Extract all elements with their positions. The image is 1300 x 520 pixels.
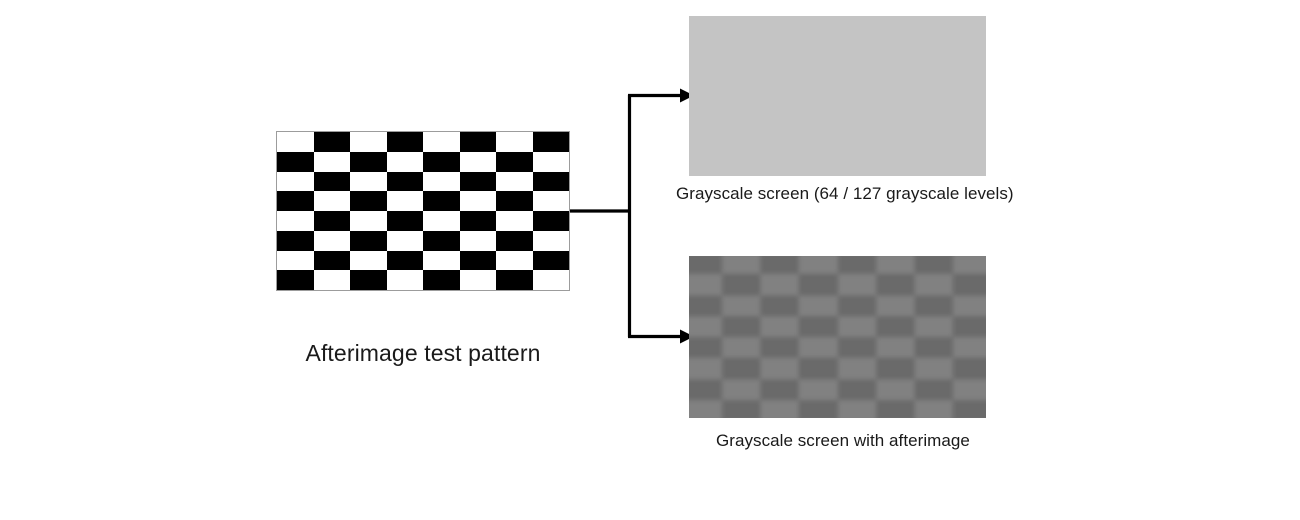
checker-cell: [423, 211, 460, 231]
afterimage-cell: [799, 337, 837, 358]
afterimage-cell: [953, 295, 986, 316]
grayscale-screen: [689, 16, 986, 176]
afterimage-cell: [838, 379, 876, 400]
afterimage-cell: [689, 274, 722, 295]
checker-cell: [314, 251, 351, 271]
checker-cell: [423, 231, 460, 251]
afterimage-cell: [722, 295, 760, 316]
afterimage-cell: [838, 274, 876, 295]
afterimage-cell: [876, 400, 914, 418]
afterimage-screen: [689, 256, 986, 418]
afterimage-cell: [914, 274, 952, 295]
checker-cell: [350, 152, 387, 172]
checker-cell: [496, 211, 533, 231]
afterimage-cell: [876, 274, 914, 295]
checker-cell: [314, 270, 351, 290]
checker-cell: [387, 172, 424, 192]
afterimage-cell: [914, 358, 952, 379]
afterimage-cell: [953, 379, 986, 400]
afterimage-cell: [953, 316, 986, 337]
afterimage-test-pattern: [276, 131, 570, 291]
afterimage-cell: [953, 274, 986, 295]
checker-cell: [496, 270, 533, 290]
checker-cell: [460, 132, 497, 152]
afterimage-cell: [799, 379, 837, 400]
afterimage-cell: [953, 256, 986, 274]
checker-cell: [460, 172, 497, 192]
checker-cell: [387, 132, 424, 152]
afterimage-cell: [914, 379, 952, 400]
checker-cell: [314, 191, 351, 211]
afterimage-cell: [689, 316, 722, 337]
checker-cell: [350, 251, 387, 271]
afterimage-cell: [914, 337, 952, 358]
afterimage-cell: [722, 256, 760, 274]
afterimage-cell: [722, 274, 760, 295]
checker-cell: [496, 231, 533, 251]
afterimage-cell: [722, 316, 760, 337]
afterimage-cell: [761, 274, 799, 295]
afterimage-cell: [876, 337, 914, 358]
afterimage-cell: [799, 316, 837, 337]
checker-cell: [350, 270, 387, 290]
checker-cell: [423, 191, 460, 211]
checker-cell: [460, 191, 497, 211]
afterimage-cell: [799, 256, 837, 274]
checker-cell: [350, 172, 387, 192]
grayscale-screen-caption: Grayscale screen (64 / 127 grayscale lev…: [676, 184, 1014, 204]
checker-cell: [387, 270, 424, 290]
checker-cell: [460, 211, 497, 231]
afterimage-cell: [838, 337, 876, 358]
checker-cell: [277, 211, 314, 231]
branching-arrow-icon: [560, 80, 700, 360]
checker-cell: [460, 152, 497, 172]
checker-cell: [460, 251, 497, 271]
afterimage-cell: [761, 379, 799, 400]
afterimage-cell: [953, 358, 986, 379]
afterimage-cell: [689, 400, 722, 418]
afterimage-cell: [689, 379, 722, 400]
checker-cell: [387, 231, 424, 251]
afterimage-diagram: Afterimage test pattern Grayscale screen…: [0, 0, 1300, 520]
afterimage-cell: [761, 295, 799, 316]
checker-cell: [350, 191, 387, 211]
afterimage-cell: [761, 337, 799, 358]
afterimage-cell: [914, 400, 952, 418]
afterimage-cell: [876, 256, 914, 274]
checker-cell: [496, 132, 533, 152]
checker-cell: [387, 191, 424, 211]
checker-cell: [496, 172, 533, 192]
checker-cell: [496, 152, 533, 172]
checker-cell: [460, 231, 497, 251]
afterimage-cell: [722, 379, 760, 400]
afterimage-cell: [689, 358, 722, 379]
afterimage-cell: [761, 358, 799, 379]
afterimage-screen-caption: Grayscale screen with afterimage: [716, 431, 970, 451]
checker-cell: [387, 211, 424, 231]
checker-cell: [496, 191, 533, 211]
checker-cell: [423, 172, 460, 192]
afterimage-cell: [722, 400, 760, 418]
checker-cell: [277, 231, 314, 251]
afterimage-cell: [799, 274, 837, 295]
checker-cell: [423, 132, 460, 152]
afterimage-cell: [799, 400, 837, 418]
afterimage-cell: [914, 256, 952, 274]
afterimage-cell: [838, 358, 876, 379]
afterimage-cell: [689, 295, 722, 316]
checker-cell: [314, 152, 351, 172]
checker-cell: [277, 152, 314, 172]
afterimage-cell: [838, 316, 876, 337]
checker-cell: [460, 270, 497, 290]
checker-cell: [277, 132, 314, 152]
checker-cell: [423, 251, 460, 271]
afterimage-cell: [689, 337, 722, 358]
afterimage-cell: [838, 400, 876, 418]
checker-cell: [314, 132, 351, 152]
checker-cell: [277, 172, 314, 192]
checker-cell: [277, 251, 314, 271]
afterimage-checkerboard: [689, 256, 986, 418]
checker-cell: [350, 231, 387, 251]
checker-cell: [423, 270, 460, 290]
afterimage-cell: [953, 337, 986, 358]
afterimage-cell: [876, 316, 914, 337]
afterimage-cell: [838, 256, 876, 274]
checker-cell: [314, 172, 351, 192]
afterimage-cell: [838, 295, 876, 316]
checker-cell: [277, 270, 314, 290]
afterimage-cell: [914, 295, 952, 316]
checker-cell: [350, 211, 387, 231]
afterimage-cell: [876, 379, 914, 400]
checker-cell: [314, 231, 351, 251]
afterimage-cell: [953, 400, 986, 418]
afterimage-cell: [914, 316, 952, 337]
checker-cell: [423, 152, 460, 172]
checker-cell: [350, 132, 387, 152]
checker-cell: [496, 251, 533, 271]
checker-cell: [277, 191, 314, 211]
checker-cell: [387, 152, 424, 172]
afterimage-cell: [799, 295, 837, 316]
afterimage-cell: [689, 256, 722, 274]
afterimage-cell: [876, 358, 914, 379]
afterimage-cell: [722, 337, 760, 358]
checker-cell: [314, 211, 351, 231]
checker-cell: [387, 251, 424, 271]
afterimage-cell: [761, 256, 799, 274]
afterimage-cell: [799, 358, 837, 379]
afterimage-cell: [722, 358, 760, 379]
afterimage-cell: [761, 400, 799, 418]
afterimage-cell: [761, 316, 799, 337]
afterimage-cell: [876, 295, 914, 316]
